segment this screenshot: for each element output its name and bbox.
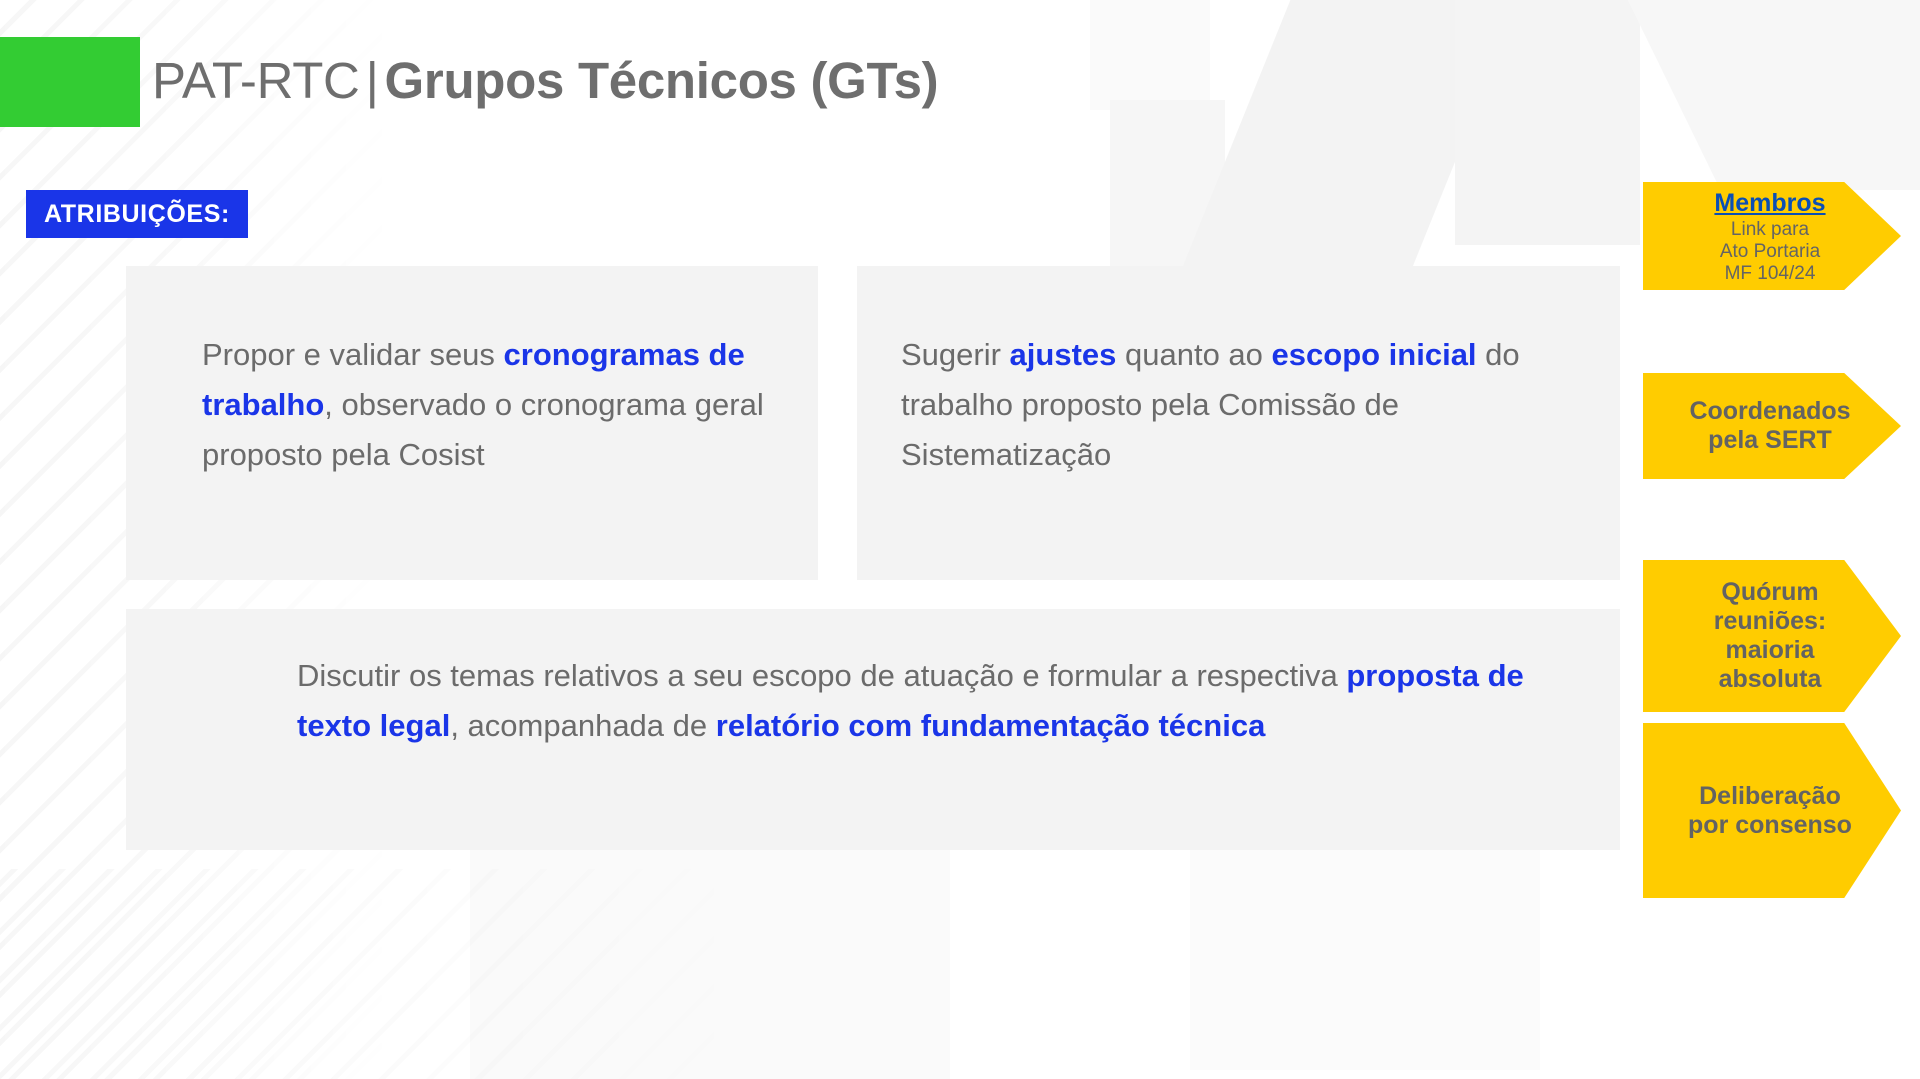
attribution-card-text: Discutir os temas relativos a seu escopo… (297, 651, 1577, 751)
callout-arrow-quorum: Quórum reuniões: maioria absoluta (1643, 560, 1901, 712)
callout-label: Deliberação por consenso (1688, 782, 1852, 839)
membros-link[interactable]: Membros (1679, 188, 1861, 218)
bg-polygon-1 (1090, 0, 1210, 110)
callout-arrow-deliberacao: Deliberação por consenso (1643, 723, 1901, 898)
callout-content: Quórum reuniões: maioria absoluta (1679, 578, 1865, 694)
slide-title: PAT-RTC|Grupos Técnicos (GTs) (152, 36, 938, 126)
callout-content: Deliberação por consenso (1679, 782, 1865, 840)
attribution-card-proposta: Discutir os temas relativos a seu escopo… (126, 609, 1620, 850)
attribution-card-text: Sugerir ajustes quanto ao escopo inicial… (901, 330, 1591, 480)
attribution-card-ajustes: Sugerir ajustes quanto ao escopo inicial… (857, 266, 1620, 580)
bg-polygon-5 (1560, 0, 1920, 190)
slide-title-emphasis: Grupos Técnicos (GTs) (385, 52, 939, 109)
callout-content: Membros Link para Ato Portaria MF 104/24 (1679, 188, 1865, 285)
section-badge: ATRIBUIÇÕES: (26, 190, 248, 238)
callout-arrow-membros[interactable]: Membros Link para Ato Portaria MF 104/24 (1643, 182, 1901, 290)
callout-arrow-coordenados: Coordenados pela SERT (1643, 373, 1901, 479)
footer-logos: MINISTÉRIO DA FAZENDA GOVERNO FEDERAL (0, 959, 1920, 1079)
attribution-card-text: Propor e validar seus cronogramas de tra… (202, 330, 802, 480)
membros-sublabel: Link para Ato Portaria MF 104/24 (1679, 219, 1861, 285)
callout-label: Coordenados pela SERT (1689, 397, 1850, 454)
slide-title-prefix: PAT-RTC (152, 52, 360, 109)
bg-polygon-4 (1455, 0, 1640, 245)
callout-label: Quórum reuniões: maioria absoluta (1714, 578, 1827, 693)
slide-title-separator: | (360, 52, 385, 109)
green-accent-block (0, 37, 140, 127)
attribution-card-cronogramas: Propor e validar seus cronogramas de tra… (126, 266, 818, 580)
slide-canvas: PAT-RTC|Grupos Técnicos (GTs) ATRIBUIÇÕE… (0, 0, 1920, 1079)
callout-content: Coordenados pela SERT (1679, 397, 1865, 455)
section-badge-label: ATRIBUIÇÕES: (44, 200, 230, 229)
